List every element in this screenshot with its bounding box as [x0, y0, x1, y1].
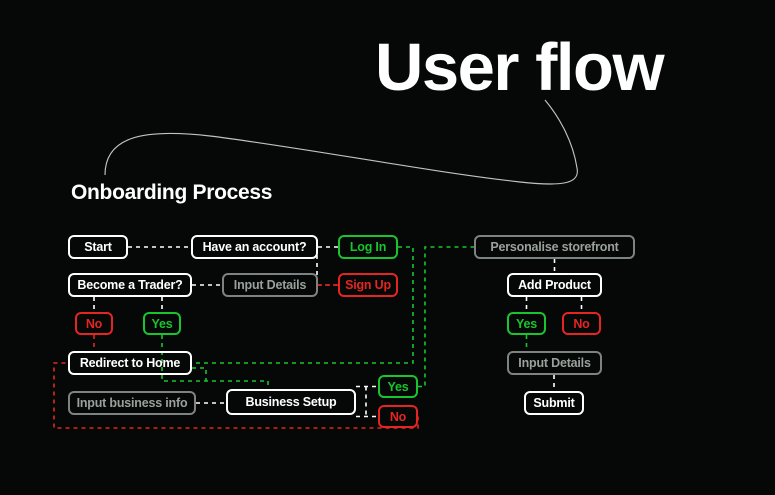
flow-node-label: Input business info [77, 396, 188, 410]
flow-node-product-no[interactable]: No [562, 312, 601, 335]
page-title: User flow [375, 34, 663, 101]
flow-node-label: Sign Up [345, 278, 391, 292]
flow-node-submit[interactable]: Submit [524, 391, 584, 415]
flow-node-label: Input Details [518, 356, 590, 370]
flow-node-label: Yes [516, 317, 537, 331]
flow-node-input-details-right[interactable]: Input Details [507, 351, 602, 375]
flow-node-product-yes[interactable]: Yes [507, 312, 546, 335]
flow-node-personalise[interactable]: Personalise storefront [474, 235, 635, 259]
flow-node-label: Input Details [234, 278, 306, 292]
flow-node-label: No [573, 317, 589, 331]
flow-node-have-account[interactable]: Have an account? [191, 235, 318, 259]
flow-node-label: Submit [533, 396, 574, 410]
flow-canvas: User flow Onboarding Process StartHave a… [0, 0, 775, 495]
flow-node-label: Personalise storefront [490, 240, 618, 254]
edge-redirect-loop [192, 368, 206, 381]
flow-node-become-trader[interactable]: Become a Trader? [68, 273, 192, 297]
flow-node-label: Business Setup [246, 395, 337, 409]
flow-node-setup-yes[interactable]: Yes [378, 375, 418, 398]
flow-node-input-business[interactable]: Input business info [68, 391, 196, 415]
flow-node-label: Yes [152, 317, 173, 331]
flow-node-input-details-mid[interactable]: Input Details [222, 273, 318, 297]
flow-node-business-setup[interactable]: Business Setup [226, 389, 356, 415]
flow-node-label: No [86, 317, 102, 331]
flow-node-trader-yes[interactable]: Yes [143, 312, 181, 335]
flow-node-label: Redirect to Home [80, 356, 180, 370]
flow-node-label: Add Product [518, 278, 591, 292]
flow-node-redirect-home[interactable]: Redirect to Home [68, 351, 192, 375]
flow-node-start[interactable]: Start [68, 235, 128, 259]
flow-node-setup-no[interactable]: No [378, 405, 418, 428]
flow-node-sign-up[interactable]: Sign Up [338, 273, 398, 297]
flow-node-log-in[interactable]: Log In [338, 235, 398, 259]
flow-node-label: Log In [350, 240, 386, 254]
flow-node-label: Yes [388, 380, 409, 394]
flow-node-trader-no[interactable]: No [75, 312, 113, 335]
flow-node-label: Become a Trader? [77, 278, 182, 292]
flow-node-label: Start [84, 240, 111, 254]
edge-login-to-redirect [192, 247, 413, 363]
flow-node-label: No [390, 410, 406, 424]
flow-node-label: Have an account? [203, 240, 307, 254]
section-title: Onboarding Process [71, 181, 272, 205]
flow-node-add-product[interactable]: Add Product [507, 273, 602, 297]
edge-setup-yes-to-personalise [418, 247, 474, 387]
